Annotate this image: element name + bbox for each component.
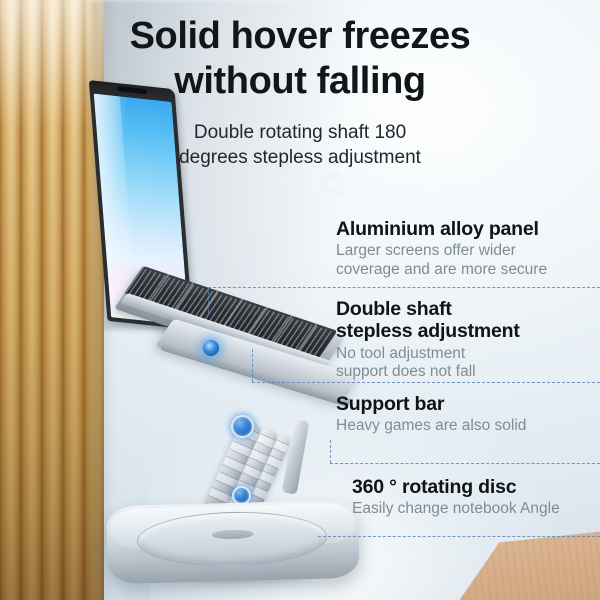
subheadline-line-1: Double rotating shaft 180 bbox=[194, 122, 406, 143]
headline: Solid hover freezes without falling bbox=[0, 14, 600, 104]
callout-title-line-1: Double shaft bbox=[336, 298, 452, 320]
callout-aluminium-alloy-panel: Aluminium alloy panel Larger screens off… bbox=[336, 218, 547, 280]
hinge-joint-upper bbox=[231, 415, 254, 438]
leader-line-3-horizontal bbox=[330, 463, 600, 464]
callout-sub-line-1: Larger screens offer wider bbox=[336, 242, 516, 259]
callout-sub-line-1: No tool adjustment bbox=[336, 345, 465, 362]
callout-title: Double shaft stepless adjustment bbox=[336, 298, 520, 343]
callout-title-line-1: Support bar bbox=[336, 393, 444, 415]
callout-sub-line-2: coverage and are more secure bbox=[336, 261, 547, 280]
callout-sub-line-2: support does not fall bbox=[336, 363, 520, 382]
callout-title-line-2: stepless adjustment bbox=[336, 320, 520, 342]
callout-sub-line-1: Easily change notebook Angle bbox=[352, 500, 560, 517]
callout-title: Aluminium alloy panel bbox=[336, 218, 547, 240]
callout-title: 360 ° rotating disc bbox=[352, 476, 560, 498]
leader-line-1-horizontal bbox=[208, 287, 600, 288]
callout-subtitle: No tool adjustment support does not fall bbox=[336, 345, 520, 382]
leader-line-2-vertical bbox=[252, 349, 253, 382]
leader-line-2-horizontal bbox=[252, 382, 600, 383]
callout-360-rotating-disc: 360 ° rotating disc Easily change notebo… bbox=[352, 476, 560, 519]
callout-subtitle: Heavy games are also solid bbox=[336, 417, 526, 436]
callout-double-shaft-stepless-adjustment: Double shaft stepless adjustment No tool… bbox=[336, 298, 520, 382]
headline-line-2: without falling bbox=[0, 59, 600, 104]
callout-subtitle: Easily change notebook Angle bbox=[352, 500, 560, 519]
callout-sub-line-1: Heavy games are also solid bbox=[336, 417, 526, 434]
subheadline: Double rotating shaft 180 degrees steple… bbox=[0, 120, 600, 170]
leader-line-3-vertical bbox=[330, 440, 331, 463]
callout-title-line-1: 360 ° rotating disc bbox=[352, 476, 516, 498]
highlight-dot-keyboard bbox=[203, 340, 219, 356]
watermark-icon bbox=[320, 172, 346, 198]
product-marketing-image: Solid hover freezes without falling Doub… bbox=[0, 0, 600, 600]
stand-base bbox=[106, 500, 360, 585]
callout-title: Support bar bbox=[336, 393, 526, 415]
leader-line-1-vertical bbox=[208, 287, 209, 313]
rotating-disc-slot bbox=[212, 529, 254, 539]
headline-line-1: Solid hover freezes bbox=[130, 15, 471, 57]
callout-support-bar: Support bar Heavy games are also solid bbox=[336, 393, 526, 436]
callout-title-line-1: Aluminium alloy panel bbox=[336, 218, 539, 240]
subheadline-line-2: degrees stepless adjustment bbox=[0, 145, 600, 170]
callout-subtitle: Larger screens offer wider coverage and … bbox=[336, 242, 547, 279]
leader-line-4-horizontal bbox=[318, 536, 600, 537]
